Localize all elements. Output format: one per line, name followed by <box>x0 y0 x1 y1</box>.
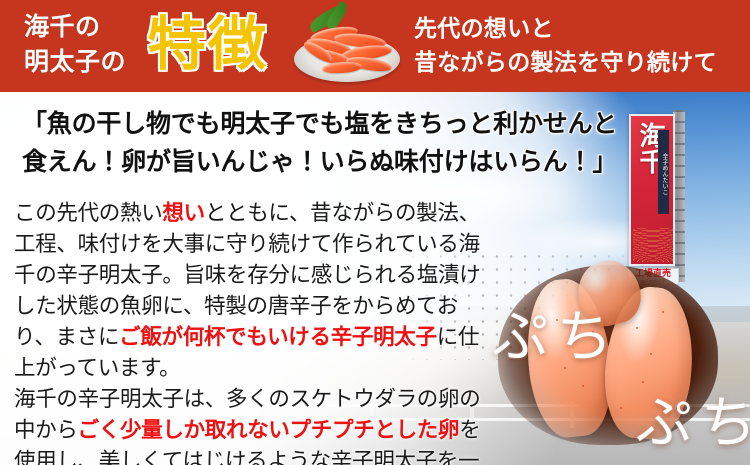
header-mentaiko-photo <box>288 6 406 86</box>
body-copy: この先代の熱い想いとともに、昔ながらの製法、工程、味付けを大事に守り続けて作られ… <box>14 198 486 465</box>
body-highlight: 想い <box>162 201 204 225</box>
header-title: 海千の 明太子の <box>24 10 126 80</box>
founder-quote: 「魚の干し物でも明太子でも塩をきちっと利かせんと 食えん！卵が旨いんじゃ！いらぬ… <box>22 105 702 181</box>
header-band: 海千の 明太子の 特徴 先代の想いと 昔ながらの製法を守り続けて <box>0 0 750 92</box>
body-highlight: ご飯が何杯でもいける辛子明太子 <box>119 325 437 349</box>
promo-banner: 海千 辛子めんたいこ 工場直売 海千の明太子 ぷち ぷち 海千の 明太子の 特徴 <box>0 0 750 465</box>
body-paragraph-2: 海千の辛子明太子は、多くのスケトウダラの卵の中からごく少量しか取れないプチプチと… <box>14 384 486 465</box>
puchi-overlay-1: ぷち <box>492 292 621 373</box>
puchi-overlay-2: ぷち <box>636 378 750 459</box>
body-paragraph-1: この先代の熱い想いとともに、昔ながらの製法、工程、味付けを大事に守り続けて作られ… <box>14 198 486 384</box>
body-highlight: ごく少量しか取れないプチプチとした卵 <box>78 418 460 442</box>
header-tagline: 先代の想いと 昔ながらの製法を守り続けて <box>414 11 717 79</box>
body-text: この先代の熱い <box>14 201 162 225</box>
header-feature-label: 特徴 <box>148 6 268 84</box>
